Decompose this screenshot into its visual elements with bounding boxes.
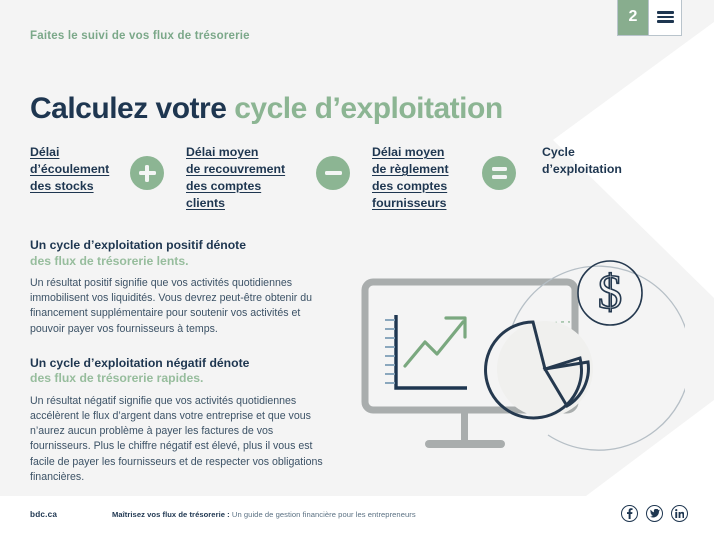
block-heading: Un cycle d’exploitation négatif dénote d… [30, 356, 330, 387]
block-subheading: des flux de trésorerie rapides. [30, 371, 330, 387]
page-badge[interactable]: 2 [617, 0, 682, 36]
formula-row: Délai d’écoulement des stocks Délai moye… [30, 144, 690, 212]
page-number: 2 [618, 0, 648, 35]
block-heading-main: Un cycle d’exploitation positif dénote [30, 238, 246, 252]
content-block-negative: Un cycle d’exploitation négatif dénote d… [30, 356, 330, 485]
block-subheading: des flux de trésorerie lents. [30, 254, 330, 270]
term-line: des stocks [30, 178, 130, 195]
social-links [621, 505, 688, 522]
facebook-icon[interactable] [621, 505, 638, 522]
term-line: de règlement [372, 161, 482, 178]
content-block-positive: Un cycle d’exploitation positif dénote d… [30, 238, 330, 337]
formula-term-result: Cycle d’exploitation [542, 144, 662, 178]
term-line: des comptes [372, 178, 482, 195]
term-line: fournisseurs [372, 195, 482, 212]
formula-term-receivables: Délai moyen de recouvrement des comptes … [186, 144, 316, 212]
page-title-part2: cycle d’exploitation [234, 92, 502, 125]
page-title: Calculez votre cycle d’exploitation [30, 94, 503, 124]
dollar-coin-icon: $ [578, 261, 642, 325]
footer-caption-rest: Un guide de gestion financière pour les … [230, 510, 416, 519]
term-line: des comptes [186, 178, 316, 195]
pie-chart-icon [486, 321, 593, 418]
footer-caption: Maîtrisez vos flux de trésorerie : Un gu… [112, 510, 416, 519]
linkedin-icon[interactable] [671, 505, 688, 522]
term-line: Délai [30, 144, 130, 161]
svg-text:$: $ [598, 264, 623, 319]
content-column: Un cycle d’exploitation positif dénote d… [30, 238, 330, 504]
formula-term-inventory: Délai d’écoulement des stocks [30, 144, 130, 195]
brand-label[interactable]: bdc.ca [30, 510, 57, 519]
block-heading: Un cycle d’exploitation positif dénote d… [30, 238, 330, 269]
formula-term-payables: Délai moyen de règlement des comptes fou… [372, 144, 482, 212]
term-line: Délai moyen [186, 144, 316, 161]
block-heading-main: Un cycle d’exploitation négatif dénote [30, 356, 249, 370]
equals-icon [482, 156, 516, 190]
block-body: Un résultat positif signifie que vos act… [30, 276, 330, 337]
term-line: de recouvrement [186, 161, 316, 178]
hamburger-icon[interactable] [648, 0, 681, 35]
term-line: d’écoulement [30, 161, 130, 178]
footer-bar: bdc.ca Maîtrisez vos flux de trésorerie … [0, 496, 714, 535]
plus-icon [130, 156, 164, 190]
term-line: clients [186, 195, 316, 212]
line-chart-growth-icon [385, 315, 467, 388]
illustration-group: $ [345, 252, 685, 467]
slide-page: Faites le suivi de vos flux de trésoreri… [0, 0, 714, 535]
term-line: Délai moyen [372, 144, 482, 161]
term-line: d’exploitation [542, 161, 662, 178]
eyebrow-label: Faites le suivi de vos flux de trésoreri… [30, 30, 250, 42]
term-line: Cycle [542, 144, 662, 161]
minus-icon [316, 156, 350, 190]
block-body: Un résultat négatif signifie que vos act… [30, 394, 330, 485]
twitter-icon[interactable] [646, 505, 663, 522]
page-title-part1: Calculez votre [30, 92, 234, 125]
footer-caption-bold: Maîtrisez vos flux de trésorerie : [112, 510, 230, 519]
